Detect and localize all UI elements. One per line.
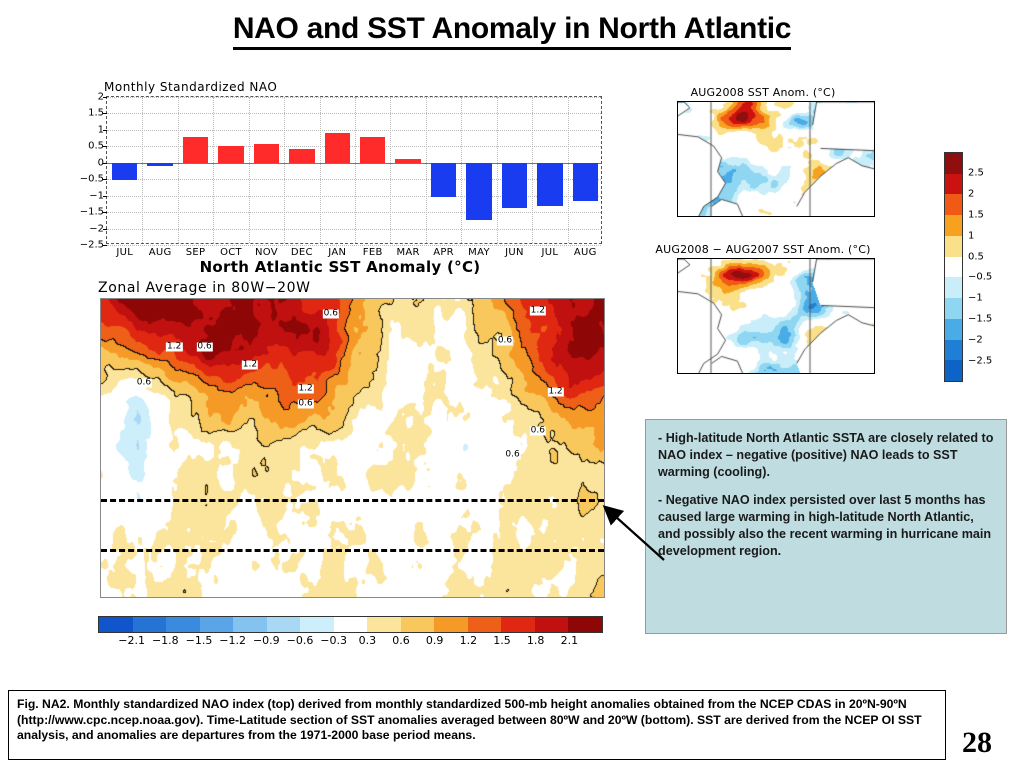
nao-bar — [395, 159, 421, 162]
colorbar-tick-label: 1.5 — [968, 209, 984, 220]
hovmoller-contour-label: 1.2 — [530, 307, 546, 316]
nao-gridline — [107, 130, 601, 131]
nao-gridline — [142, 97, 143, 243]
hovmoller-contour-label: 1.2 — [242, 361, 258, 370]
map-y-tick-mark — [677, 317, 678, 318]
colorbar-swatch — [434, 617, 468, 632]
colorbar-swatch — [535, 617, 569, 632]
hovmoller-y-tick-mark — [100, 349, 101, 350]
hovmoller-contour-label: 0.6 — [504, 451, 520, 460]
colorbar-swatch — [945, 257, 962, 278]
map-x-tick-mark — [711, 216, 712, 217]
colorbar-tick-label: −0.6 — [287, 634, 314, 647]
nao-bar — [537, 163, 563, 206]
nao-y-tick-mark — [103, 97, 107, 98]
hovmoller-contour-label: 0.6 — [297, 400, 313, 409]
map-colorbar: 2.521.510.5−0.5−1−1.5−2−2.5 — [944, 152, 1014, 382]
colorbar-swatch — [267, 617, 301, 632]
colorbar-tick-label: 2.1 — [561, 634, 579, 647]
map-y-tick-mark — [677, 278, 678, 279]
nao-gridline — [497, 97, 498, 243]
colorbar-tick-label: 1 — [968, 230, 974, 241]
colorbar-swatch — [945, 153, 962, 174]
colorbar-swatch — [334, 617, 368, 632]
map-y-tick-mark — [677, 179, 678, 180]
map-x-tick-mark — [777, 373, 778, 374]
colorbar-swatch — [401, 617, 435, 632]
map-title: AUG2008 − AUG2007 SST Anom. (°C) — [648, 243, 878, 256]
colorbar-swatch — [945, 174, 962, 195]
colorbar-swatch — [501, 617, 535, 632]
colorbar-tick-label: 0.3 — [359, 634, 377, 647]
map-field — [678, 259, 875, 374]
map-y-tick-mark — [677, 199, 678, 200]
nao-bar — [502, 163, 528, 208]
map-y-tick-mark — [677, 298, 678, 299]
nao-y-tick-label: −0.5 — [80, 174, 104, 185]
map-x-tick-mark — [843, 216, 844, 217]
colorbar-swatch — [945, 340, 962, 361]
colorbar-swatch — [945, 298, 962, 319]
nao-gridline — [390, 97, 391, 243]
colorbar-tick-label: −2.1 — [118, 634, 145, 647]
nao-bar — [147, 163, 173, 166]
colorbar-tick-label: 0.9 — [426, 634, 444, 647]
nao-y-tick-label: 0.5 — [88, 141, 104, 152]
map-x-tick-mark — [810, 373, 811, 374]
hovmoller-contour-label: 1.2 — [297, 385, 313, 394]
nao-x-tick-label: JUL — [541, 247, 558, 258]
nao-x-tick-label: SEP — [186, 247, 206, 258]
nao-gridline — [178, 97, 179, 243]
hovmoller-contour-label: 0.6 — [530, 427, 546, 436]
nao-bar — [573, 163, 599, 201]
hovmoller-colorbar: −2.1−1.8−1.5−1.2−0.9−0.6−0.30.30.60.91.2… — [98, 616, 603, 649]
map-y-tick-mark — [677, 336, 678, 337]
nao-gridline — [107, 146, 601, 147]
map-aug2008-sst-anomaly: AUG2008 SST Anom. (°C) 60N50N40N30N20N10… — [648, 86, 878, 236]
colorbar-swatch — [945, 360, 962, 381]
nao-gridline — [107, 245, 601, 246]
hovmoller-chart: North Atlantic SST Anomaly (°C) Zonal Av… — [60, 258, 620, 658]
colorbar-tick-label: 1.8 — [527, 634, 545, 647]
nao-y-tick-label: −1.5 — [80, 207, 104, 218]
nao-gridline — [532, 97, 533, 243]
map-field — [678, 102, 875, 217]
nao-bar — [466, 163, 492, 221]
map-x-tick-mark — [711, 373, 712, 374]
nao-x-tick-label: NOV — [255, 247, 278, 258]
colorbar-tick-label: 1.2 — [460, 634, 478, 647]
hovmoller-contour-label: 1.2 — [547, 388, 563, 397]
colorbar-tick-label: −0.9 — [253, 634, 280, 647]
callout-paragraph-2: - Negative NAO index persisted over last… — [658, 492, 994, 560]
nao-chart-title: Monthly Standardized NAO — [104, 80, 277, 94]
nao-x-tick-label: APR — [433, 247, 454, 258]
nao-y-tick-label: −2 — [89, 223, 104, 234]
map-x-tick-mark — [843, 373, 844, 374]
nao-x-tick-label: JAN — [328, 247, 346, 258]
map-title: AUG2008 SST Anom. (°C) — [648, 86, 878, 99]
hovmoller-subtitle: Zonal Average in 80W−20W — [98, 280, 311, 296]
map-y-tick-mark — [677, 121, 678, 122]
colorbar-tick-label: −2.5 — [968, 356, 992, 367]
nao-y-tick-mark — [103, 212, 107, 213]
nao-gridline — [107, 212, 601, 213]
nao-bar-chart: Monthly Standardized NAO 21.510.50−0.5−1… — [78, 82, 618, 247]
map-y-tick-mark — [677, 356, 678, 357]
nao-y-tick-label: 1.5 — [88, 108, 104, 119]
hovmoller-contour-label: 0.6 — [497, 337, 513, 346]
nao-gridline — [213, 97, 214, 243]
colorbar-swatch — [133, 617, 167, 632]
colorbar-swatch — [945, 319, 962, 340]
nao-x-tick-label: JUN — [505, 247, 524, 258]
nao-x-tick-label: AUG — [149, 247, 172, 258]
colorbar-strip — [98, 616, 603, 633]
map-aug2008-minus-aug2007-sst-anomaly: AUG2008 − AUG2007 SST Anom. (°C) 60N50N4… — [648, 243, 878, 398]
page-title: NAO and SST Anomaly in North Atlantic — [0, 12, 1024, 46]
map-y-tick-mark — [677, 259, 678, 260]
colorbar-strip-vertical — [944, 152, 963, 382]
nao-gridline — [107, 113, 601, 114]
map-plot-area: 60N50N40N30N20N10NEQ100W80W60W40W20W020E — [677, 258, 875, 374]
colorbar-tick-label: 1.5 — [493, 634, 511, 647]
nao-y-tick-mark — [103, 113, 107, 114]
hovmoller-reference-line — [101, 549, 604, 552]
nao-y-tick-mark — [103, 146, 107, 147]
callout-paragraph-1: - High-latitude North Atlantic SSTA are … — [658, 430, 994, 481]
figure-caption-box: Fig. NA2. Monthly standardized NAO index… — [8, 690, 946, 760]
map-x-tick-mark — [744, 216, 745, 217]
nao-x-tick-label: MAY — [468, 247, 490, 258]
nao-gridline — [107, 229, 601, 230]
nao-x-tick-label: DEC — [291, 247, 313, 258]
nao-y-tick-mark — [103, 245, 107, 246]
nao-gridline — [568, 97, 569, 243]
colorbar-swatch — [233, 617, 267, 632]
hovmoller-contour-label: 0.6 — [323, 310, 339, 319]
hovmoller-contour-label: 0.6 — [196, 343, 212, 352]
colorbar-swatch — [468, 617, 502, 632]
page-number: 28 — [962, 726, 992, 760]
colorbar-tick-label: −0.3 — [320, 634, 347, 647]
colorbar-tick-label: −1.2 — [219, 634, 246, 647]
nao-gridline — [107, 97, 601, 98]
hovmoller-contour-label: 1.2 — [166, 343, 182, 352]
hovmoller-y-tick-mark — [100, 299, 101, 300]
nao-x-tick-label: OCT — [220, 247, 242, 258]
map-y-tick-mark — [677, 160, 678, 161]
colorbar-tick-labels: −2.1−1.8−1.5−1.2−0.9−0.6−0.30.30.60.91.2… — [98, 633, 603, 649]
nao-bar — [360, 137, 386, 163]
hovmoller-reference-line — [101, 499, 604, 502]
nao-bar — [112, 163, 138, 180]
colorbar-swatch — [568, 617, 602, 632]
colorbar-swatch — [945, 236, 962, 257]
colorbar-swatch — [367, 617, 401, 632]
callout-arrow-icon — [592, 488, 672, 568]
colorbar-swatch — [200, 617, 234, 632]
hovmoller-contour-label: 0.6 — [136, 379, 152, 388]
nao-bar — [183, 137, 209, 163]
nao-bar — [218, 146, 244, 162]
colorbar-tick-label: 0.5 — [968, 251, 984, 262]
colorbar-tick-label: −1.5 — [968, 314, 992, 325]
nao-gridline — [284, 97, 285, 243]
nao-gridline — [249, 97, 250, 243]
colorbar-tick-label: 2.5 — [968, 167, 984, 178]
nao-y-tick-mark — [103, 179, 107, 180]
map-y-tick-mark — [677, 102, 678, 103]
nao-y-tick-label: −2.5 — [80, 240, 104, 251]
map-x-tick-mark — [744, 373, 745, 374]
nao-y-tick-mark — [103, 196, 107, 197]
map-y-tick-mark — [677, 141, 678, 142]
nao-bar — [431, 163, 457, 198]
nao-gridline — [355, 97, 356, 243]
nao-x-tick-label: MAR — [396, 247, 419, 258]
nao-x-tick-label: AUG — [574, 247, 597, 258]
nao-gridline — [426, 97, 427, 243]
nao-bar — [325, 133, 351, 163]
colorbar-swatch — [166, 617, 200, 632]
map-x-tick-mark — [678, 373, 679, 374]
hovmoller-y-tick-mark — [100, 399, 101, 400]
colorbar-tick-label: 2 — [968, 188, 974, 199]
nao-gridline — [320, 97, 321, 243]
hovmoller-title: North Atlantic SST Anomaly (°C) — [60, 258, 620, 276]
colorbar-swatch — [945, 215, 962, 236]
colorbar-tick-label: −1.8 — [152, 634, 179, 647]
map-x-tick-mark — [810, 216, 811, 217]
nao-x-tick-label: FEB — [363, 247, 383, 258]
colorbar-swatch — [945, 194, 962, 215]
nao-plot-area: 21.510.50−0.5−1−1.5−2−2.5JULAUGSEPOCTNOV… — [106, 96, 602, 244]
page-title-text: NAO and SST Anomaly in North Atlantic — [233, 12, 791, 50]
nao-bar — [254, 144, 280, 163]
colorbar-tick-label: −1.5 — [186, 634, 213, 647]
nao-gridline — [461, 97, 462, 243]
colorbar-tick-label: −1 — [968, 293, 983, 304]
nao-bar — [289, 149, 315, 163]
nao-y-tick-mark — [103, 130, 107, 131]
map-x-tick-mark — [678, 216, 679, 217]
hovmoller-y-tick-mark — [100, 449, 101, 450]
colorbar-swatch — [945, 277, 962, 298]
nao-y-tick-mark — [103, 229, 107, 230]
figure-caption-text: Fig. NA2. Monthly standardized NAO index… — [17, 697, 937, 744]
colorbar-swatch — [300, 617, 334, 632]
colorbar-tick-label: 0.6 — [392, 634, 410, 647]
hovmoller-plot-area: 60N50N40N30N20N10NEQJUNJULAUGSEPOCTNOVDE… — [100, 298, 605, 598]
colorbar-tick-label: −0.5 — [968, 272, 992, 283]
map-x-tick-mark — [777, 216, 778, 217]
colorbar-swatch — [99, 617, 133, 632]
nao-x-tick-label: JUL — [116, 247, 133, 258]
callout-box: - High-latitude North Atlantic SSTA are … — [645, 419, 1007, 634]
map-plot-area: 60N50N40N30N20N10NEQ100W80W60W40W20W020E — [677, 101, 875, 217]
nao-y-tick-label: −1 — [89, 190, 104, 201]
colorbar-tick-label: −2 — [968, 335, 983, 346]
